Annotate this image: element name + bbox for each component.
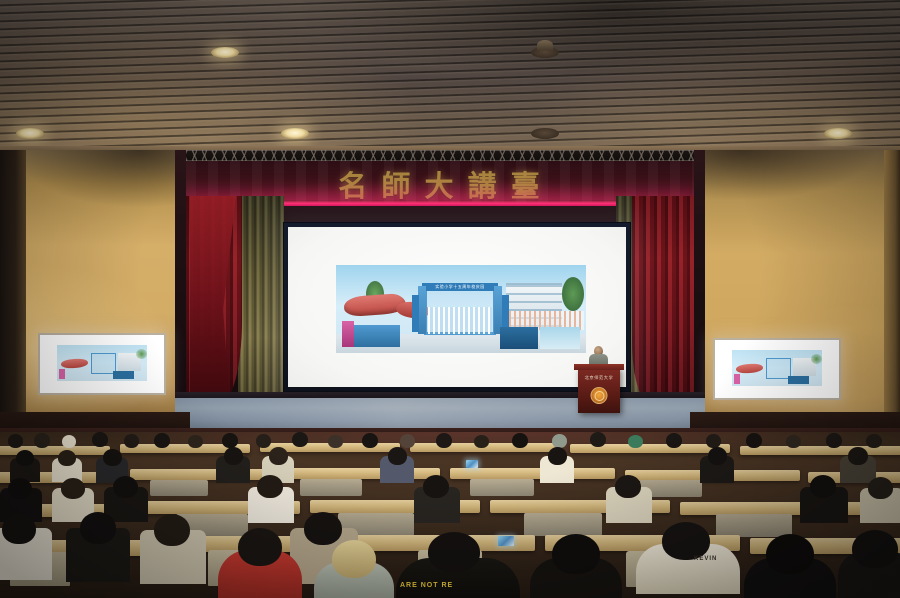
desk-panel	[524, 513, 602, 536]
ceiling-downlight	[824, 128, 852, 139]
audience-head	[552, 534, 600, 574]
desk-row	[285, 468, 440, 479]
side-screen-right	[713, 338, 841, 400]
audience-head	[62, 435, 76, 448]
audience-head	[786, 435, 801, 448]
audience-head	[58, 450, 76, 466]
audience-head	[428, 532, 480, 572]
shirt-text: KEVIN	[694, 556, 717, 562]
audience-head	[2, 514, 36, 544]
stage-curtain-right	[632, 196, 694, 404]
audience-head	[257, 475, 283, 498]
screen-surface: 实验小学十五周年校庆园	[288, 227, 626, 387]
audience-head	[826, 433, 842, 448]
audience-head	[292, 432, 308, 447]
audience-head	[590, 432, 606, 447]
inner-curtain-left	[238, 196, 284, 398]
audience-head	[154, 514, 190, 546]
seated-audience: ARE NOT RE KEVIN	[0, 432, 900, 598]
ceiling-downlight	[16, 128, 44, 139]
audience-head	[269, 447, 288, 465]
desk-row	[450, 468, 615, 479]
audience-head	[124, 434, 139, 448]
audience-head	[852, 530, 898, 568]
slide-gate-sign: 实验小学十五周年校庆园	[426, 283, 494, 291]
audience-head	[766, 534, 814, 574]
audience-head	[615, 475, 641, 498]
audience-head	[474, 435, 489, 448]
audience-head	[61, 478, 85, 499]
audience-head	[866, 434, 882, 448]
phone-screen-lit	[466, 460, 478, 468]
audience-head	[436, 433, 452, 448]
ceiling-downlight	[531, 47, 559, 58]
right-wall-edge	[884, 150, 900, 438]
desk-row	[130, 469, 275, 480]
audience-head	[103, 449, 122, 466]
jacket-text: ARE NOT RE	[400, 582, 453, 589]
audience-head	[332, 540, 376, 578]
audience-head	[154, 433, 170, 448]
audience-head	[256, 434, 271, 448]
audience-head	[848, 447, 868, 465]
audience-head	[92, 432, 108, 447]
podium-front-text: 北京师范大学	[578, 375, 620, 381]
podium-emblem-icon	[591, 387, 608, 404]
audience-head	[400, 434, 415, 448]
desk-panel	[716, 514, 792, 537]
audience-head	[662, 522, 710, 560]
left-wall-dark-edge	[0, 150, 26, 432]
desk-panel	[300, 479, 362, 496]
audience-head	[238, 528, 282, 566]
desk-panel	[470, 479, 534, 496]
lecture-hall-photo: 名 師 大 講 臺 实	[0, 0, 900, 598]
audience-head	[304, 512, 342, 545]
audience-head	[222, 433, 238, 448]
ceiling-downlight	[531, 128, 559, 139]
slatted-ceiling	[0, 0, 900, 152]
audience-head	[388, 447, 407, 465]
audience-head	[666, 433, 682, 448]
ceiling-downlight	[211, 47, 239, 58]
ceiling-downlight	[281, 128, 309, 139]
audience-head	[706, 434, 721, 448]
slide-school-campus-photo: 实验小学十五周年校庆园	[336, 265, 586, 353]
audience-head	[113, 476, 138, 498]
audience-head	[188, 435, 203, 448]
side-screen-left	[38, 333, 166, 395]
audience-head	[8, 478, 32, 499]
audience-head	[746, 433, 762, 448]
audience-head	[34, 433, 50, 448]
audience-head	[708, 447, 727, 465]
audience-head	[80, 512, 116, 544]
audience-head	[224, 447, 243, 465]
audience-head	[552, 434, 567, 448]
audience-head	[548, 447, 567, 465]
audience-head	[512, 433, 528, 448]
speaker-podium: 北京师范大学	[578, 368, 620, 413]
phone-screen-lit	[498, 536, 514, 546]
audience-head	[810, 475, 836, 498]
audience-head	[423, 475, 449, 498]
lighting-truss	[186, 150, 694, 161]
ceiling-slats	[0, 0, 900, 152]
audience-head	[8, 434, 23, 448]
audience-head	[328, 435, 343, 448]
audience-head	[362, 433, 378, 448]
desk-panel	[150, 480, 208, 496]
audience-head	[868, 477, 893, 499]
audience-head	[628, 435, 643, 448]
audience-head	[16, 450, 34, 466]
